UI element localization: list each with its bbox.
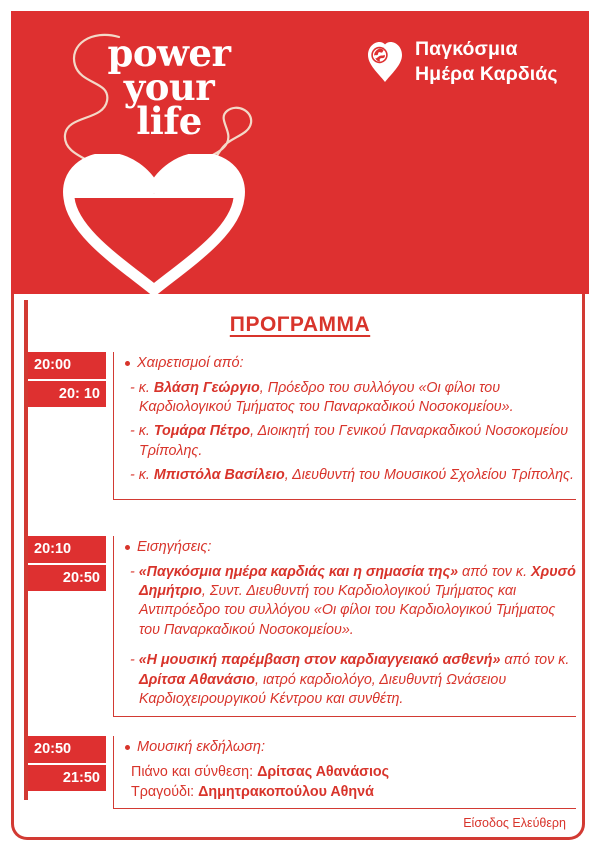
bullet-icon: [125, 361, 130, 366]
bullet-icon: [125, 745, 130, 750]
time-badge: 20:00 20: 10: [28, 352, 106, 407]
list-item: - κ. Βλάση Γεώργιο, Πρόεδρο του συλλόγου…: [139, 379, 576, 418]
block-content: Εισηγήσεις: - «Παγκόσμια ημέρα καρδιάς κ…: [113, 536, 576, 717]
admission-note: Είσοδος Ελεύθερη: [463, 816, 566, 830]
list-item: - κ. Μπιστόλα Βασίλειο, Διευθυντή του Μο…: [139, 466, 576, 485]
time-start: 20:50: [28, 736, 106, 763]
block-content: Χαιρετισμοί από: - κ. Βλάση Γεώργιο, Πρό…: [113, 352, 576, 500]
time-end: 21:50: [28, 765, 106, 792]
time-badge: 20:10 20:50: [28, 536, 106, 591]
logo-wordmark: power your life: [79, 36, 259, 138]
bullet-icon: [125, 545, 130, 550]
poster: power your life Παγκόσμια Ημέρ: [0, 0, 600, 855]
world-heart-day-logo: Παγκόσμια Ημέρα Καρδιάς: [366, 37, 558, 87]
list-item: - «Παγκόσμια ημέρα καρδιάς και η σημασία…: [139, 563, 576, 641]
block-lead: Μουσική εκδήλωση:: [125, 738, 576, 758]
heart-outline-icon: [59, 154, 249, 294]
list-item: Τραγούδι: Δημητρακοπούλου Αθηνά: [131, 783, 576, 802]
time-badge: 20:50 21:50: [28, 736, 106, 791]
block-lead: Χαιρετισμοί από:: [125, 354, 576, 374]
list-item: - κ. Τομάρα Πέτρο, Διοικητή του Γενικού …: [139, 422, 576, 461]
logo-line-3: life: [79, 104, 259, 138]
block-lead-text: Μουσική εκδήλωση:: [137, 738, 265, 758]
page-title: ΠΡΟΓΡΑΜΜΑ: [0, 313, 600, 337]
poster-header: power your life Παγκόσμια Ημέρ: [11, 11, 589, 294]
block-lead-text: Εισηγήσεις:: [137, 538, 211, 558]
power-your-life-logo: power your life: [41, 19, 271, 294]
time-end: 20: 10: [28, 381, 106, 408]
block-lead: Εισηγήσεις:: [125, 538, 576, 558]
time-start: 20:10: [28, 536, 106, 563]
whd-line-2: Ημέρα Καρδιάς: [415, 62, 558, 87]
whd-line-1: Παγκόσμια: [415, 37, 558, 62]
time-start: 20:00: [28, 352, 106, 379]
list-item: Πιάνο και σύνθεση: Δρίτσας Αθανάσιος: [131, 763, 576, 782]
world-heart-day-text: Παγκόσμια Ημέρα Καρδιάς: [415, 37, 558, 87]
page-title-text: ΠΡΟΓΡΑΜΜΑ: [230, 313, 370, 336]
block-content: Μουσική εκδήλωση: Πιάνο και σύνθεση: Δρί…: [113, 736, 576, 809]
block-lead-text: Χαιρετισμοί από:: [137, 354, 244, 374]
heart-globe-icon: [366, 41, 404, 83]
time-end: 20:50: [28, 565, 106, 592]
list-item: - «Η μουσική παρέμβαση στον καρδιαγγειακ…: [139, 651, 576, 709]
